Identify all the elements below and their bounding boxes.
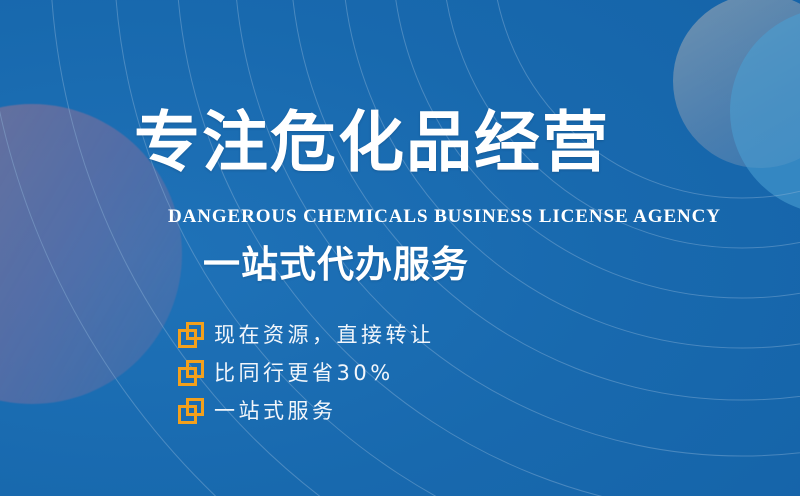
overlapping-squares-icon xyxy=(178,398,204,424)
list-item-label: 一站式服务 xyxy=(214,401,337,422)
headline-subtitle-cn: 一站式代办服务 xyxy=(203,246,469,283)
banner-content: 专注危化品经营 DANGEROUS CHEMICALS BUSINESS LIC… xyxy=(0,0,800,496)
list-item: 比同行更省30% xyxy=(178,354,435,392)
list-item: 一站式服务 xyxy=(178,392,435,430)
overlapping-squares-icon xyxy=(178,360,204,386)
list-item-label: 现在资源，直接转让 xyxy=(214,325,435,346)
headline-subtitle-en: DANGEROUS CHEMICALS BUSINESS LICENSE AGE… xyxy=(168,206,721,228)
list-item: 现在资源，直接转让 xyxy=(178,316,435,354)
overlapping-squares-icon xyxy=(178,322,204,348)
feature-bullet-list: 现在资源，直接转让 比同行更省30% 一站式服务 xyxy=(178,316,435,430)
list-item-label: 比同行更省30% xyxy=(214,363,394,384)
promotional-banner: 专注危化品经营 DANGEROUS CHEMICALS BUSINESS LIC… xyxy=(0,0,800,496)
headline-title-cn: 专注危化品经营 xyxy=(134,110,610,176)
